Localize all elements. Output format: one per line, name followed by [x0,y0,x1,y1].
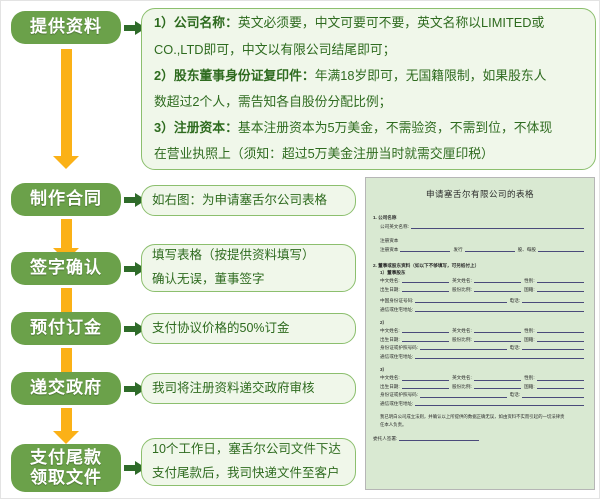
field-label: 通信或住宅地址: [380,306,413,313]
form-row-birth-3: 出生日期: 股份比例: 国籍: [380,383,587,390]
field-rule[interactable] [537,383,584,389]
field-label: 性别: [524,277,534,284]
field-rule[interactable] [474,286,521,292]
field-rule[interactable] [402,336,449,342]
form-title: 申请塞舌尔有限公司的表格 [366,188,594,200]
arrow-shaft [61,219,72,248]
box-deposit: 支付协议价格的50%订金 [141,313,356,344]
form-row-id-3: 身份证或护照号码: 电话: [380,391,587,398]
form-row-signature: 委托人签署: [373,435,587,442]
field-label: 每股 [527,246,536,253]
box-line: 数超过2个人，需告知各自股份分配比例； [154,89,583,115]
box-contract: 如右图：为申请塞舌尔公司表格 [141,185,356,216]
box-line: 3）注册资本：基本注册资本为5万美金，不需验资，不需到位，不体现 [154,115,583,141]
field-rule[interactable] [415,400,584,406]
arrow-down-icon-5 [53,408,79,444]
form-row-address-3: 通信或住宅地址: [380,400,587,407]
form-row-capital: 注册资本 发行 股、 每股 [380,246,587,253]
box-line: 如右图：为申请塞舌尔公司表格 [152,189,345,213]
field-rule[interactable] [420,344,507,350]
field-label: 股份比例: [452,336,472,343]
form-row-capital-head: 注册资本 [380,237,587,244]
form-section-2: 2. 董事或股东资料（如以下不够填写，可另纸付上） [373,262,587,269]
box-signature: 填写表格（按提供资料填写） 确认无误，董事签字 [141,244,356,292]
form-spacer [373,230,587,236]
application-form-image: 申请塞舌尔有限公司的表格 1. 公司名称 公司英文名称: 注册资本 注册资本 发… [365,177,595,490]
form-body: 1. 公司名称 公司英文名称: 注册资本 注册资本 发行 股、 每股 2. 董事… [366,214,594,442]
step-pill-provide[interactable]: 提供资料 [11,11,121,44]
field-rule[interactable] [522,297,584,303]
field-rule[interactable] [415,353,584,359]
field-rule[interactable] [474,327,521,333]
step-label: 提供资料 [30,17,102,37]
field-label: 通信或住宅地址: [380,400,413,407]
field-rule[interactable] [474,375,521,381]
form-row-id-2: 身份证或护照号码: 电话: [380,344,587,351]
field-rule[interactable] [465,246,515,252]
step-label: 制作合同 [30,189,102,209]
form-row-address-2: 通信或住宅地址: [380,353,587,360]
form-spacer [373,293,587,296]
field-rule[interactable] [402,327,449,333]
form-row-company-en: 公司英文名称: [380,223,587,230]
field-label: 中文姓名: [380,327,400,334]
step-label: 递交政府 [30,378,102,398]
field-label: 电话: [510,297,520,304]
field-label: 股份比例: [452,286,472,293]
form-section-1: 1. 公司名称 [373,214,587,221]
arrow-head [53,431,79,444]
field-rule[interactable] [420,392,507,398]
box-line: 填写表格（按提供资料填写） [152,244,345,268]
field-label: 中文姓名: [380,374,400,381]
field-label: 电话: [510,344,520,351]
field-label: 国籍: [524,336,534,343]
step-label-line2: 领取文件 [30,468,102,488]
field-rule[interactable] [474,383,521,389]
form-row-birth-2: 出生日期: 股份比例: 国籍: [380,336,587,343]
field-rule[interactable] [402,277,449,283]
field-rule[interactable] [537,327,584,333]
field-label: 注册资本 [380,237,398,244]
declaration-line-1: 我已明白公司成立法则，并确认以上所提供的数据正确无误，如由资料不实而引起的一切法… [380,413,587,420]
box-submit-gov: 我司将注册资料递交政府审核 [141,373,356,404]
field-rule[interactable] [415,297,506,303]
field-rule[interactable] [402,375,449,381]
step-pill-contract[interactable]: 制作合同 [11,183,121,216]
field-rule[interactable] [537,336,584,342]
box-final-delivery: 10个工作日，塞舌尔公司文件下达 支付尾款后，我司快递文件至客户 [141,438,356,486]
field-rule[interactable] [537,286,584,292]
field-rule[interactable] [537,277,584,283]
form-row-name-3: 中文姓名: 英文姓名: 性别: [380,374,587,381]
form-row-name-2: 中文姓名: 英文姓名: 性别: [380,327,587,334]
form-row-birth-1: 出生日期: 股份比例: 国籍: [380,286,587,293]
box-line: 10个工作日，塞舌尔公司文件下达 [152,438,345,462]
field-rule[interactable] [538,246,584,252]
field-rule[interactable] [411,223,584,229]
box-line: 确认无误，董事签字 [152,268,345,292]
form-spacer [373,253,587,259]
field-label: 英文姓名: [452,374,472,381]
box-line: 1）公司名称：英文必须要，中文可要可不要，英文名称以LIMITED或 [154,10,583,36]
field-label: 通信或住宅地址: [380,353,413,360]
step-pill-signature[interactable]: 签字确认 [11,252,121,285]
flowchart-page: 提供资料 1）公司名称：英文必须要，中文可要可不要，英文名称以LIMITED或 … [0,0,600,499]
field-label: 出生日期: [380,286,400,293]
field-label: 英文姓名: [452,277,472,284]
field-label: 公司英文名称: [380,223,409,230]
step-label: 签字确认 [30,258,102,278]
signature-rule[interactable] [399,435,479,441]
form-row-address-1: 通信或住宅地址: [380,306,587,313]
box-line: 我司将注册资料递交政府审核 [152,377,345,401]
field-label: 英文姓名: [452,327,472,334]
field-rule[interactable] [522,344,584,350]
field-rule[interactable] [474,336,521,342]
box-line: CO.,LTD即可，中文以有限公司结尾即可； [154,37,583,63]
field-label: 中国身份证号码: [380,297,413,304]
field-rule[interactable] [415,306,584,312]
form-row-id-1: 中国身份证号码: 电话: [380,297,587,304]
field-label: 股、 [518,246,527,253]
field-rule[interactable] [474,277,521,283]
step-label: 预付订金 [30,318,102,338]
step-label-line1: 支付尾款 [30,448,102,468]
field-rule[interactable] [402,383,449,389]
field-label: 国籍: [524,286,534,293]
step-pill-submit-gov[interactable]: 递交政府 [11,372,121,405]
field-rule[interactable] [400,246,450,252]
box-provide-info: 1）公司名称：英文必须要，中文可要可不要，英文名称以LIMITED或 CO.,L… [141,8,596,170]
arrow-shaft [61,408,72,431]
field-rule[interactable] [537,375,584,381]
form-subsection-3: 3） [380,366,587,373]
field-rule[interactable] [402,286,449,292]
arrow-down-icon-1 [53,49,79,169]
form-declaration: 我已明白公司成立法则，并确认以上所提供的数据正确无误，如由资料不实而引起的一切法… [380,413,587,428]
step-pill-final-payment[interactable]: 支付尾款 领取文件 [11,444,121,492]
box-line: 在营业执照上（须知：超过5万美金注册当时就需交厘印税） [154,141,583,167]
field-label: 注册资本 [380,246,398,253]
form-subsection-1: 1）董事股东 [380,269,587,276]
field-label: 身份证或护照号码: [380,391,418,398]
field-label: 身份证或护照号码: [380,344,418,351]
field-rule[interactable] [522,392,584,398]
arrow-shaft [61,49,72,156]
field-label: 出生日期: [380,383,400,390]
field-label: 电话: [510,391,520,398]
field-label: 性别: [524,327,534,334]
declaration-line-2: 任本人负责。 [380,421,587,428]
field-label: 委托人签署: [373,435,397,442]
box-line: 支付尾款后，我司快递文件至客户 [152,462,345,486]
form-row-name-1: 中文姓名: 英文姓名: 性别: [380,277,587,284]
field-label: 中文姓名: [380,277,400,284]
arrow-head [53,156,79,169]
field-label: 性别: [524,374,534,381]
field-label: 国籍: [524,383,534,390]
field-label: 股份比例: [452,383,472,390]
field-label: 发行 [453,246,462,253]
form-subsection-2: 2） [380,319,587,326]
field-label: 出生日期: [380,336,400,343]
box-line: 2）股东董事身份证复印件：年满18岁即可，无国籍限制，如果股东人 [154,63,583,89]
box-line: 支付协议价格的50%订金 [152,317,345,341]
step-pill-deposit[interactable]: 预付订金 [11,312,121,345]
